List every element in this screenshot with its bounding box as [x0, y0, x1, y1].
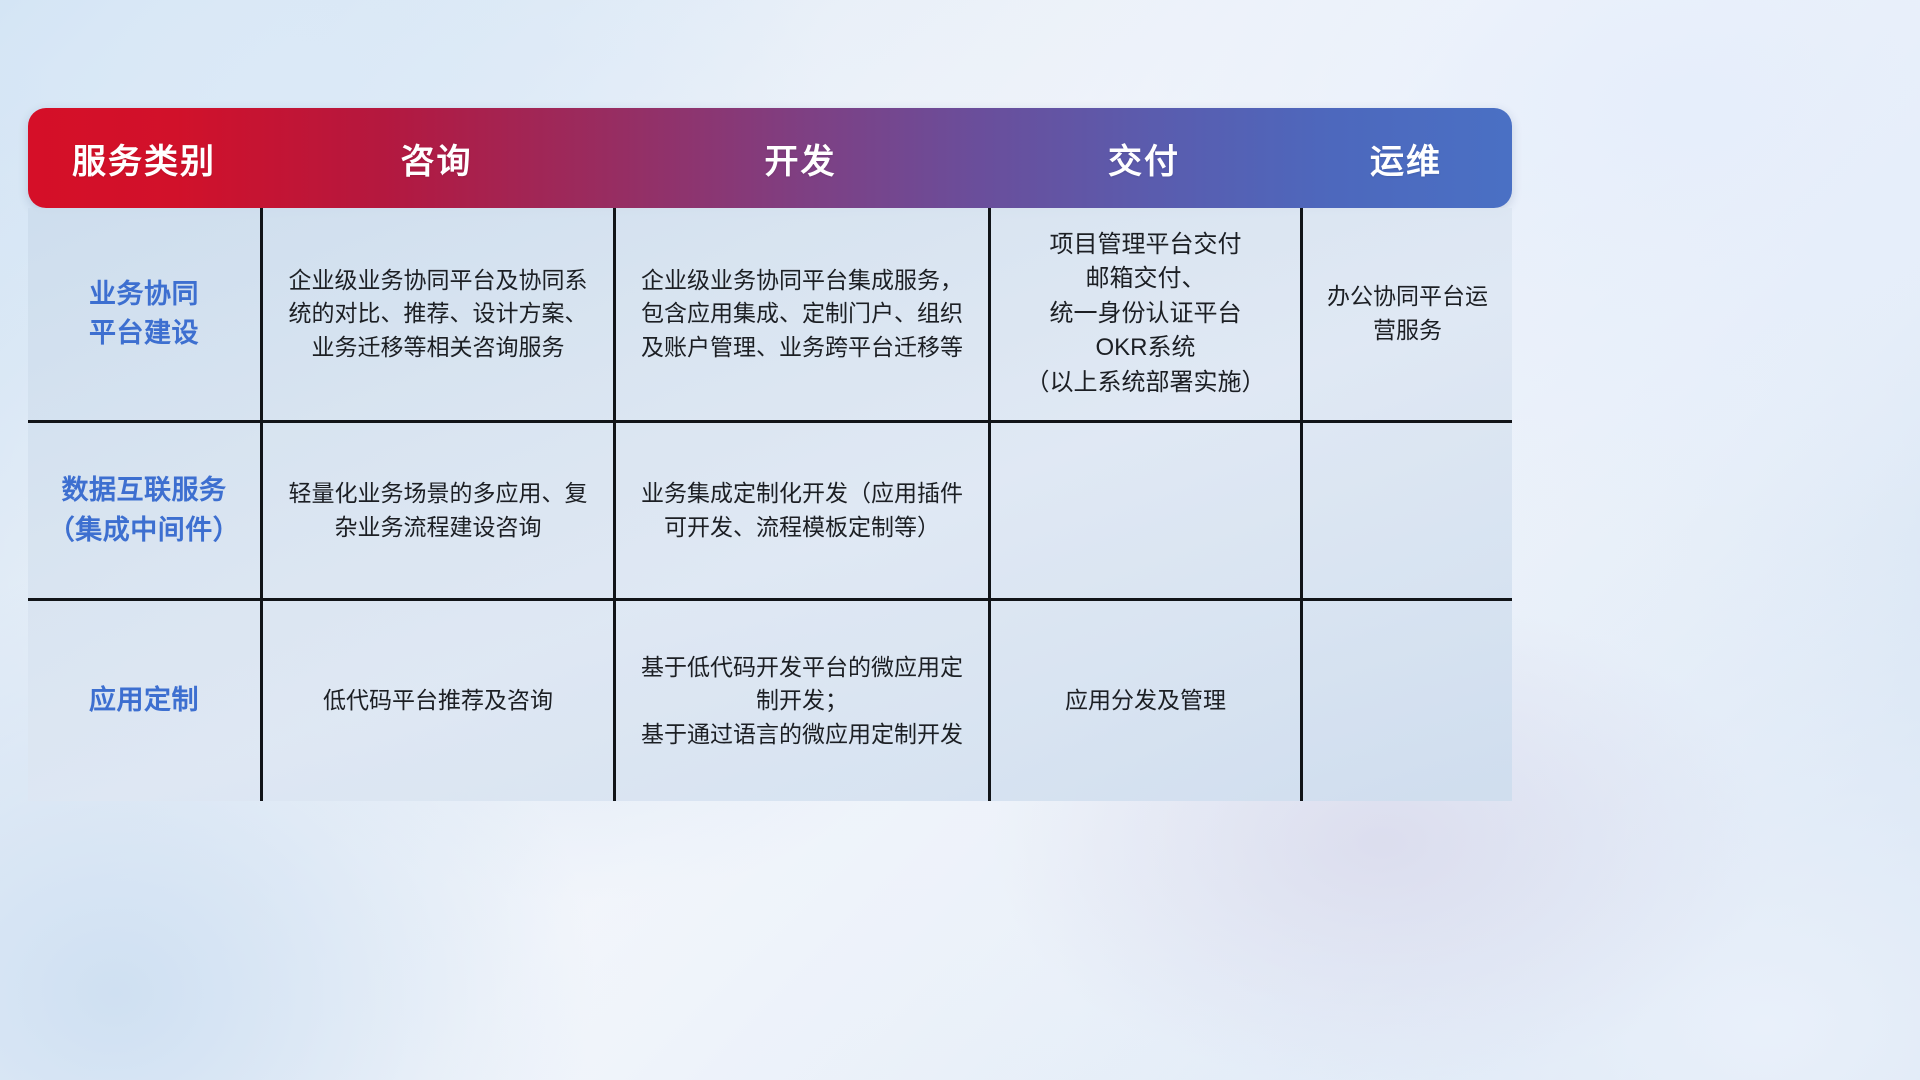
table-row: 应用定制 低代码平台推荐及咨询 基于低代码开发平台的微应用定 制开发； 基于通过…: [28, 598, 1512, 801]
column-header-delivery: 交付: [988, 108, 1300, 208]
cell-operations: [1300, 423, 1512, 598]
cell-development: 业务集成定制化开发（应用插件 可开发、流程模板定制等）: [613, 423, 988, 598]
table-header-row: 服务类别 咨询 开发 交付 运维: [28, 108, 1512, 208]
column-header-service-category: 服务类别: [28, 108, 260, 208]
row-label-text: 数据互联服务 （集成中间件）: [48, 471, 241, 549]
row-label-cell: 应用定制: [28, 601, 260, 801]
service-matrix-table: 服务类别 咨询 开发 交付 运维 业务协同 平台建设 企业级业务协同平台及协同系…: [28, 108, 1512, 801]
cell-text: 企业级业务协同平台集成服务， 包含应用集成、定制门户、组织 及账户管理、业务跨平…: [641, 264, 963, 365]
cell-text: 应用分发及管理: [1065, 684, 1226, 718]
cell-delivery: 项目管理平台交付 邮箱交付、 统一身份认证平台 OKR系统 （以上系统部署实施）: [988, 208, 1300, 420]
cell-operations: 办公协同平台运营服务: [1300, 208, 1512, 420]
cell-text: 企业级业务协同平台及协同系 统的对比、推荐、设计方案、 业务迁移等相关咨询服务: [289, 264, 588, 365]
cell-text: 项目管理平台交付 邮箱交付、 统一身份认证平台 OKR系统 （以上系统部署实施）: [1026, 228, 1266, 401]
cell-text: 低代码平台推荐及咨询: [323, 684, 553, 718]
cell-consulting: 企业级业务协同平台及协同系 统的对比、推荐、设计方案、 业务迁移等相关咨询服务: [260, 208, 613, 420]
column-header-consulting: 咨询: [260, 108, 613, 208]
cell-text: 基于低代码开发平台的微应用定 制开发； 基于通过语言的微应用定制开发: [641, 651, 963, 752]
cell-development: 基于低代码开发平台的微应用定 制开发； 基于通过语言的微应用定制开发: [613, 601, 988, 801]
cell-consulting: 轻量化业务场景的多应用、复 杂业务流程建设咨询: [260, 423, 613, 598]
cell-text: 办公协同平台运营服务: [1317, 280, 1498, 347]
cell-consulting: 低代码平台推荐及咨询: [260, 601, 613, 801]
cell-text: 业务集成定制化开发（应用插件 可开发、流程模板定制等）: [641, 477, 963, 544]
cell-operations: [1300, 601, 1512, 801]
row-label-text: 业务协同 平台建设: [89, 275, 199, 353]
cell-text: 轻量化业务场景的多应用、复 杂业务流程建设咨询: [289, 477, 588, 544]
table-row: 数据互联服务 （集成中间件） 轻量化业务场景的多应用、复 杂业务流程建设咨询 业…: [28, 420, 1512, 598]
row-label-cell: 数据互联服务 （集成中间件）: [28, 423, 260, 598]
table-row: 业务协同 平台建设 企业级业务协同平台及协同系 统的对比、推荐、设计方案、 业务…: [28, 208, 1512, 420]
row-label-text: 应用定制: [89, 681, 199, 720]
column-header-development: 开发: [613, 108, 988, 208]
cell-delivery: 应用分发及管理: [988, 601, 1300, 801]
column-header-operations: 运维: [1300, 108, 1512, 208]
cell-delivery: [988, 423, 1300, 598]
row-label-cell: 业务协同 平台建设: [28, 208, 260, 420]
cell-development: 企业级业务协同平台集成服务， 包含应用集成、定制门户、组织 及账户管理、业务跨平…: [613, 208, 988, 420]
table-body: 业务协同 平台建设 企业级业务协同平台及协同系 统的对比、推荐、设计方案、 业务…: [28, 208, 1512, 801]
